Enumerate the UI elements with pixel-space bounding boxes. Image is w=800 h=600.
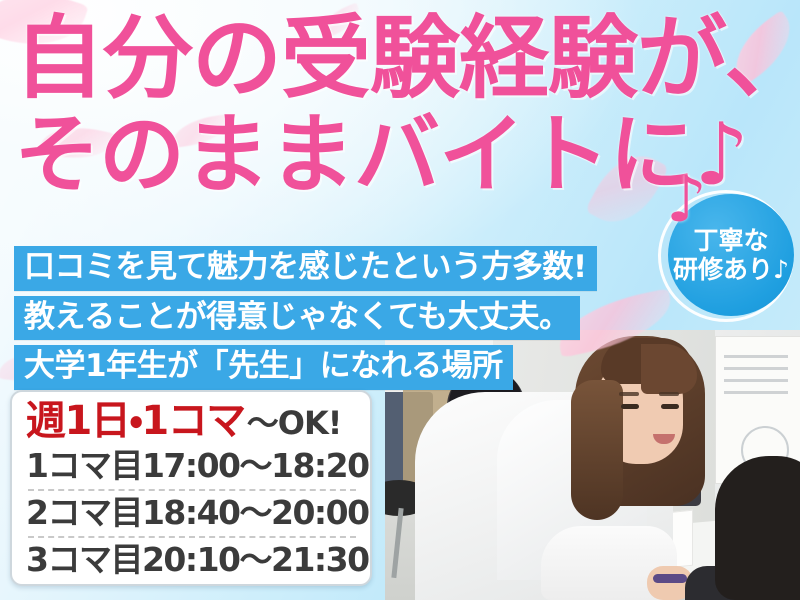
schedule-headline-red: 週1日・1コマ <box>26 400 245 443</box>
schedule-card: 週1日・1コマ 〜OK! 1コマ目17:00〜18:20 2コマ目18:40〜2… <box>10 390 372 586</box>
photo-tutor-bracelet <box>653 574 687 583</box>
schedule-slot-1: 1コマ目17:00〜18:20 <box>26 445 358 488</box>
schedule-divider <box>28 489 356 491</box>
headline-line-1: 自分の受験経験が、 <box>14 16 794 102</box>
schedule-divider <box>28 536 356 538</box>
photo-tutor-eye <box>621 404 639 409</box>
feature-banner-3: 大学1年生が「先生」になれる場所 <box>14 345 513 390</box>
schedule-headline: 週1日・1コマ 〜OK! <box>26 398 358 444</box>
banner-stage: 自分の受験経験が、 そのままバイトに♪ 丁寧な 研修あり♪ ♪ 口コミを見て魅力… <box>0 0 800 600</box>
photo-tutor-eye <box>661 404 679 409</box>
feature-banner-list: 口コミを見て魅力を感じたという方多数! 教えることが得意じゃなくても大丈夫。 大… <box>14 246 597 390</box>
photo-tutor-eyebrow <box>659 392 679 396</box>
photo-student-head <box>715 456 800 600</box>
feature-banner-1: 口コミを見て魅力を感じたという方多数! <box>14 246 597 291</box>
schedule-slot-3: 3コマ目20:10〜21:30 <box>26 539 358 582</box>
training-badge: 丁寧な 研修あり♪ ♪ <box>656 188 796 320</box>
music-note-icon: ♪ <box>666 168 707 232</box>
photo-tutor-hair-side <box>571 380 623 520</box>
badge-line-2: 研修あり♪ <box>673 255 789 285</box>
feature-banner-2: 教えることが得意じゃなくても大丈夫。 <box>14 296 580 341</box>
schedule-headline-gray: 〜OK! <box>247 398 342 444</box>
photo-tutor-eyebrow <box>619 392 639 396</box>
schedule-slot-2: 2コマ目18:40〜20:00 <box>26 492 358 535</box>
